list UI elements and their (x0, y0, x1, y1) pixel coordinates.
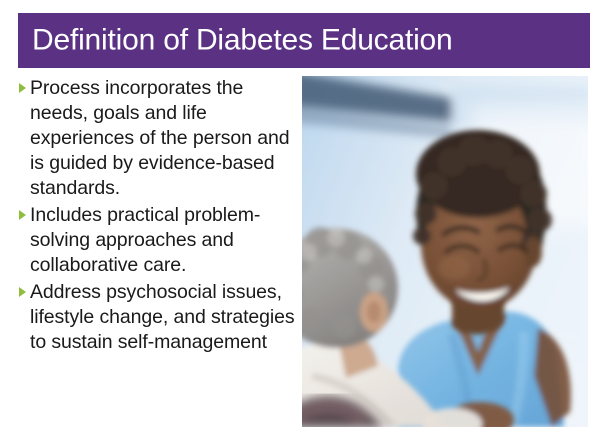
page-title: Definition of Diabetes Education (32, 25, 453, 55)
list-item: Includes practical problem-solving appro… (14, 203, 298, 278)
nurse-and-patient-photo (302, 76, 588, 427)
triangle-right-bullet-icon (14, 280, 30, 297)
title-bar: Definition of Diabetes Education (18, 13, 590, 68)
bullet-list: Process incorporates the needs, goals an… (14, 76, 298, 428)
triangle-right-bullet-icon (14, 76, 30, 93)
slide: Definition of Diabetes Education Process… (0, 0, 600, 432)
list-item: Process incorporates the needs, goals an… (14, 76, 298, 201)
list-item-label: Includes practical problem-solving appro… (30, 203, 298, 278)
photo-illustration (302, 76, 588, 427)
list-item: Address psychosocial issues, lifestyle c… (14, 280, 298, 355)
list-item-label: Process incorporates the needs, goals an… (30, 76, 298, 201)
list-item-label: Address psychosocial issues, lifestyle c… (30, 280, 298, 355)
triangle-right-bullet-icon (14, 203, 30, 220)
